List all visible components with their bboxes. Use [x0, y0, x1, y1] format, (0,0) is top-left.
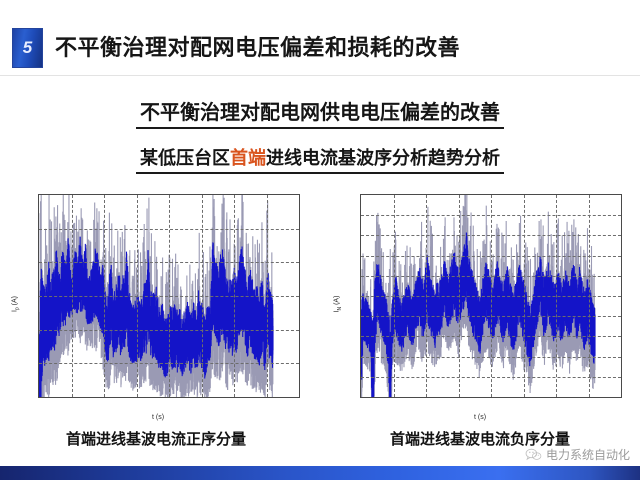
gridline-horizontal: [39, 330, 299, 331]
chart-left-xlabel: t (s): [8, 414, 308, 421]
gridline-horizontal: [39, 262, 299, 263]
chart-right-plot-area: 0500100015002000250030003500400051015202…: [360, 194, 622, 398]
gridline-horizontal: [361, 377, 621, 378]
slide-header: 5 不平衡治理对配网电压偏差和损耗的改善: [0, 24, 640, 76]
subtitle-secondary-text: 某低压台区首端进线电流基波序分析趋势分析: [136, 144, 504, 174]
subtitle-primary: 不平衡治理对配电网供电电压偏差的改善: [0, 96, 640, 129]
section-number-badge: 5: [12, 28, 43, 68]
gridline-horizontal: [39, 363, 299, 364]
header-divider: [0, 75, 640, 76]
subtitle-primary-text: 不平衡治理对配电网供电电压偏差的改善: [136, 96, 504, 129]
footer-bar: [0, 466, 640, 480]
gridline-horizontal: [361, 276, 621, 277]
watermark: 电力系统自动化: [525, 446, 630, 463]
gridline-horizontal: [361, 296, 621, 297]
chart-left-ylabel: Ip (A): [11, 296, 20, 312]
gridline-horizontal: [39, 229, 299, 230]
chart-positive-sequence: Ip (A) 050010001500200025003000350040003…: [8, 188, 308, 420]
gridline-horizontal: [361, 256, 621, 257]
chart-right-xlabel: t (s): [330, 414, 630, 421]
gridline-horizontal: [361, 357, 621, 358]
subtitle-secondary-post: 进线电流基波序分析趋势分析: [266, 148, 500, 169]
caption-left: 首端进线基波电流正序分量: [6, 428, 306, 449]
slide-root: 5 不平衡治理对配网电压偏差和损耗的改善 不平衡治理对配电网供电电压偏差的改善 …: [0, 0, 640, 480]
chart-right-ylabel: IN (A): [334, 296, 343, 313]
subtitle-secondary-pre: 某低压台区: [140, 148, 230, 169]
subtitle-secondary-highlight: 首端: [230, 148, 266, 169]
chart-left-plot-area: 0500100015002000250030003500400030035040…: [38, 194, 300, 398]
gridline-horizontal: [361, 316, 621, 317]
watermark-text: 电力系统自动化: [546, 446, 630, 463]
gridline-horizontal: [361, 235, 621, 236]
wechat-icon: [525, 448, 542, 461]
subtitle-secondary: 某低压台区首端进线电流基波序分析趋势分析: [0, 144, 640, 174]
page-title: 不平衡治理对配网电压偏差和损耗的改善: [55, 30, 460, 62]
gridline-horizontal: [361, 215, 621, 216]
chart-negative-sequence: IN (A) 050010001500200025003000350040005…: [330, 188, 630, 420]
gridline-horizontal: [39, 296, 299, 297]
gridline-horizontal: [361, 336, 621, 337]
